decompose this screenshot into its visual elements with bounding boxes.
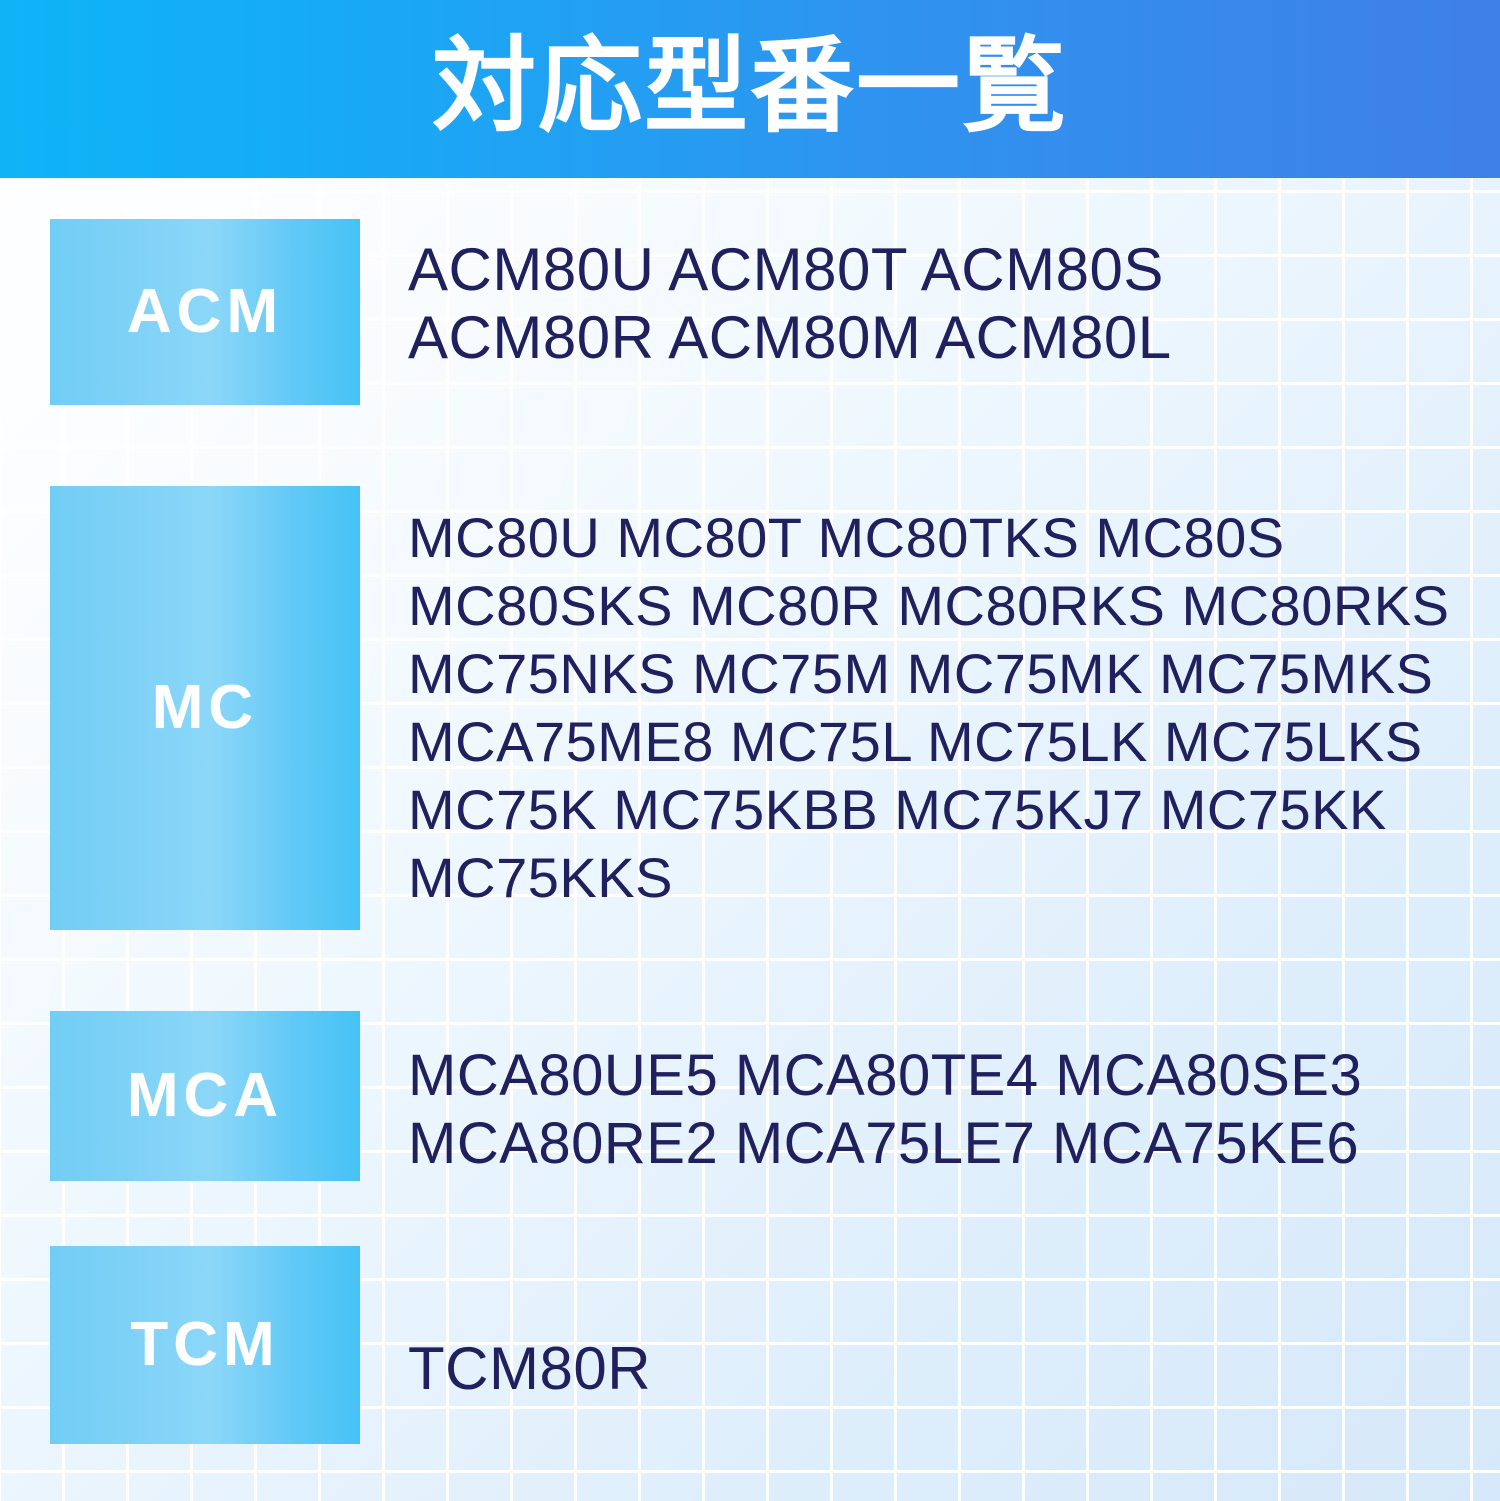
model-line: MC80SKS MC80R MC80RKS MC80RKS [408,572,1449,640]
category-badge-mca: MCA [50,1011,360,1181]
category-badge-label-acm: ACM [127,281,283,343]
model-list-mca: MCA80UE5 MCA80TE4 MCA80SE3 MCA80RE2 MCA7… [408,1042,1362,1178]
category-badge-mc: MC [50,486,360,930]
page-header-banner: 対応型番一覧 [0,0,1500,178]
model-line: MC75K MC75KBB MC75KJ7 MC75KK [408,776,1449,844]
model-line: MC75KKS [408,844,1449,912]
category-badge-label-mca: MCA [127,1065,283,1127]
model-list-tcm: TCM80R [408,1335,651,1403]
category-badge-label-tcm: TCM [130,1314,279,1376]
model-list-acm: ACM80U ACM80T ACM80S ACM80R ACM80M ACM80… [408,236,1172,372]
model-list-mc: MC80U MC80T MC80TKS MC80S MC80SKS MC80R … [408,504,1449,912]
model-line: MC75NKS MC75M MC75MK MC75MKS [408,640,1449,708]
page-title: 対応型番一覧 [432,35,1068,139]
category-badge-acm: ACM [50,219,360,405]
model-line: MCA80RE2 MCA75LE7 MCA75KE6 [408,1110,1362,1178]
model-line: MCA80UE5 MCA80TE4 MCA80SE3 [408,1042,1362,1110]
model-line: ACM80R ACM80M ACM80L [408,304,1172,372]
category-badge-tcm: TCM [50,1246,360,1444]
model-line: ACM80U ACM80T ACM80S [408,236,1172,304]
model-line: MCA75ME8 MC75L MC75LK MC75LKS [408,708,1449,776]
category-badge-label-mc: MC [152,677,258,739]
model-line: MC80U MC80T MC80TKS MC80S [408,504,1449,572]
compatible-model-list-page: 対応型番一覧 ACM ACM80U ACM80T ACM80S ACM80R A… [0,0,1500,1501]
model-line: TCM80R [408,1335,651,1403]
